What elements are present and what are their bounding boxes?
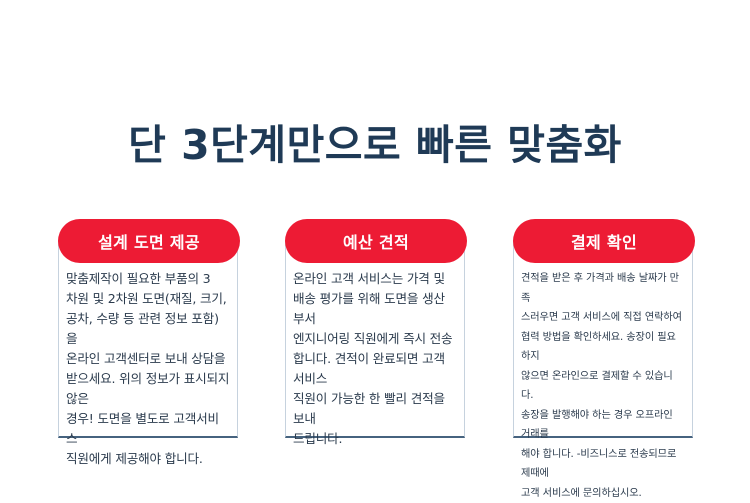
- step-card-3-line-1: 견적을 받은 후 가격과 배송 날짜가 만족: [521, 269, 685, 308]
- step-card-1-line-4: 온라인 고객센터로 보내 상담을: [66, 349, 230, 369]
- step-card-2: 예산 견적 온라인 고객 서비스는 가격 및 배송 평가를 위해 도면을 생산 …: [285, 240, 465, 438]
- step-card-3-line-4: 않으면 온라인으로 결제할 수 있습니다.: [521, 367, 685, 406]
- step-card-3-line-7: 고객 서비스에 문의하십시오.: [521, 484, 685, 503]
- page-title: 단 3단계만으로 빠른 맞춤화: [0, 123, 750, 168]
- step-card-3-line-6: 해야 합니다. -비즈니스로 전송되므로 제때에: [521, 445, 685, 484]
- step-card-3: 결제 확인 견적을 받은 후 가격과 배송 날짜가 만족 스러우면 고객 서비스…: [513, 240, 693, 438]
- step-card-1-line-6: 경우! 도면을 별도로 고객서비스: [66, 409, 230, 449]
- step-card-1-line-1: 맞춤제작이 필요한 부품의 3: [66, 269, 230, 289]
- step-card-3-header: 결제 확인: [513, 219, 695, 263]
- step-card-1-line-2: 차원 및 2차원 도면(재질, 크기,: [66, 289, 230, 309]
- step-card-3-line-5: 송장을 발행해야 하는 경우 오프라인 거래를: [521, 406, 685, 445]
- step-card-1-line-7: 직원에게 제공해야 합니다.: [66, 449, 230, 469]
- step-card-1-line-5: 받으세요. 위의 정보가 표시되지 않은: [66, 369, 230, 409]
- step-card-2-line-1: 온라인 고객 서비스는 가격 및: [293, 269, 457, 289]
- step-card-2-line-4: 합니다. 견적이 완료되면 고객 서비스: [293, 349, 457, 389]
- step-card-2-line-3: 엔지니어링 직원에게 즉시 전송: [293, 329, 457, 349]
- promo-page: 단 3단계만으로 빠른 맞춤화 설계 도면 제공 맞춤제작이 필요한 부품의 3…: [0, 0, 750, 482]
- step-card-2-body: 온라인 고객 서비스는 가격 및 배송 평가를 위해 도면을 생산 부서 엔지니…: [286, 269, 464, 449]
- step-card-3-line-3: 협력 방법을 확인하세요. 송장이 필요하지: [521, 328, 685, 367]
- step-card-3-line-2: 스러우면 고객 서비스에 직접 연락하여: [521, 308, 685, 328]
- step-card-2-line-6: 드립니다.: [293, 429, 457, 449]
- step-card-2-line-5: 직원이 가능한 한 빨리 견적을 보내: [293, 389, 457, 429]
- steps-card-row: 설계 도면 제공 맞춤제작이 필요한 부품의 3 차원 및 2차원 도면(재질,…: [0, 218, 750, 448]
- step-card-1-body: 맞춤제작이 필요한 부품의 3 차원 및 2차원 도면(재질, 크기, 공차, …: [59, 269, 237, 469]
- step-card-1: 설계 도면 제공 맞춤제작이 필요한 부품의 3 차원 및 2차원 도면(재질,…: [58, 240, 238, 438]
- step-card-3-body: 견적을 받은 후 가격과 배송 날짜가 만족 스러우면 고객 서비스에 직접 연…: [514, 269, 692, 503]
- step-card-1-header: 설계 도면 제공: [58, 219, 240, 263]
- step-card-2-line-2: 배송 평가를 위해 도면을 생산 부서: [293, 289, 457, 329]
- step-card-1-line-3: 공차, 수량 등 관련 정보 포함)을: [66, 309, 230, 349]
- step-card-2-header: 예산 견적: [285, 219, 467, 263]
